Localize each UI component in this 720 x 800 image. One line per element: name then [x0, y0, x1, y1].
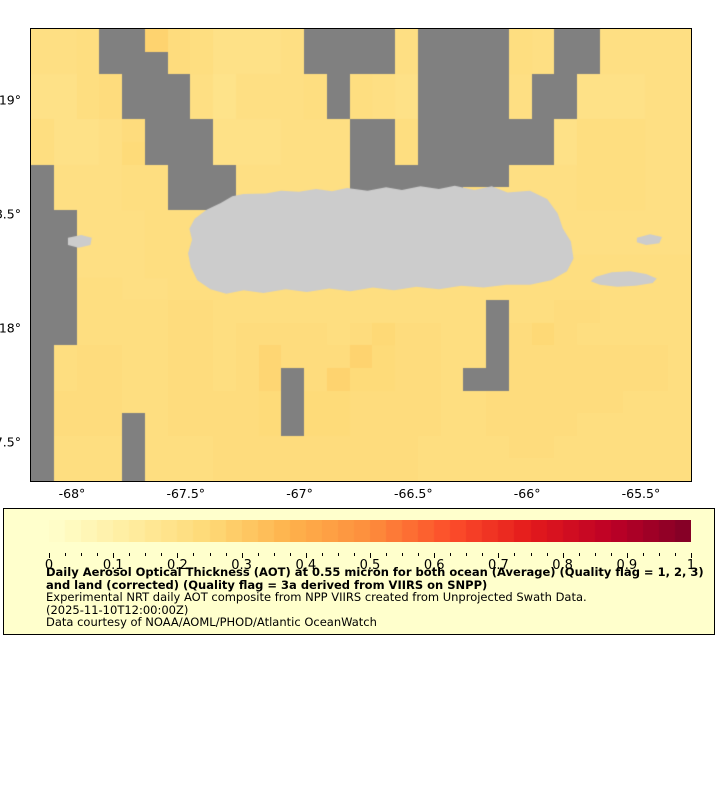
- y-axis-tick-label: 17.5°: [0, 435, 21, 450]
- colorbar-minor-tick: [322, 553, 323, 556]
- colorbar-minor-tick: [258, 553, 259, 556]
- colorbar-minor-tick: [418, 553, 419, 556]
- colorbar-minor-tick: [290, 553, 291, 556]
- colorbar-minor-tick: [129, 553, 130, 556]
- colorbar-ticks: 00.10.20.30.40.50.60.70.80.91: [49, 520, 691, 560]
- colorbar-minor-tick: [354, 553, 355, 556]
- colorbar-minor-tick: [145, 553, 146, 556]
- map-plot-area[interactable]: [30, 28, 692, 482]
- colorbar-minor-tick: [65, 553, 66, 556]
- colorbar-minor-tick: [210, 553, 211, 556]
- colorbar-minor-tick: [466, 553, 467, 556]
- caption-block: Daily Aerosol Optical Thickness (AOT) at…: [46, 566, 706, 629]
- colorbar-minor-tick: [482, 553, 483, 556]
- caption-credit: Data courtesy of NOAA/AOML/PHOD/Atlantic…: [46, 616, 706, 629]
- colorbar-minor-tick: [514, 553, 515, 556]
- colorbar-minor-tick: [97, 553, 98, 556]
- colorbar-minor-tick: [81, 553, 82, 556]
- colorbar-minor-tick: [402, 553, 403, 556]
- aot-heatmap-canvas[interactable]: [31, 29, 691, 481]
- colorbar-minor-tick: [338, 553, 339, 556]
- y-axis-tick-label: 18°: [0, 321, 21, 336]
- y-axis-tick-label: 19°: [0, 92, 21, 107]
- x-axis-tick-label: -66°: [514, 486, 541, 501]
- x-axis-tick-label: -67°: [286, 486, 313, 501]
- figure-page: -68°-67.5°-67°-66.5°-66°-65.5°19°18.5°18…: [0, 0, 720, 800]
- x-axis-tick-label: -66.5°: [394, 486, 433, 501]
- colorbar-minor-tick: [386, 553, 387, 556]
- colorbar-minor-tick: [675, 553, 676, 556]
- legend-caption-panel: 00.10.20.30.40.50.60.70.80.91 Daily Aero…: [3, 508, 715, 635]
- caption-title: Daily Aerosol Optical Thickness (AOT) at…: [46, 566, 706, 591]
- colorbar-minor-tick: [193, 553, 194, 556]
- colorbar-minor-tick: [659, 553, 660, 556]
- colorbar-minor-tick: [450, 553, 451, 556]
- colorbar-minor-tick: [274, 553, 275, 556]
- x-axis-tick-label: -68°: [59, 486, 86, 501]
- map-figure: -68°-67.5°-67°-66.5°-66°-65.5°19°18.5°18…: [0, 0, 720, 500]
- y-axis-tick-label: 18.5°: [0, 206, 21, 221]
- colorbar-minor-tick: [161, 553, 162, 556]
- colorbar-minor-tick: [643, 553, 644, 556]
- colorbar-minor-tick: [595, 553, 596, 556]
- x-axis-tick-label: -65.5°: [622, 486, 661, 501]
- y-axis-major-tick: [0, 281, 5, 282]
- x-axis-tick-label: -67.5°: [166, 486, 205, 501]
- colorbar-minor-tick: [226, 553, 227, 556]
- colorbar-minor-tick: [547, 553, 548, 556]
- colorbar-minor-tick: [531, 553, 532, 556]
- caption-subtitle-1: Experimental NRT daily AOT composite fro…: [46, 591, 706, 604]
- colorbar-minor-tick: [579, 553, 580, 556]
- colorbar-minor-tick: [611, 553, 612, 556]
